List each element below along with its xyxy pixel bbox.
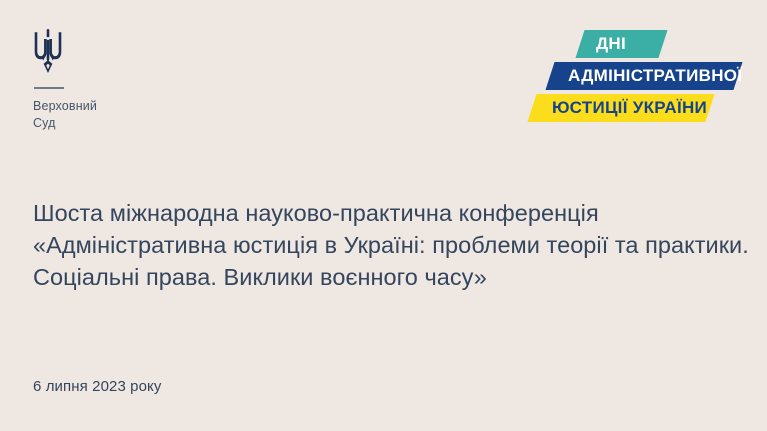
logo-label-line2: Суд [33, 115, 223, 132]
ukrainian-trident-emblem [33, 29, 63, 73]
title-line-2: «Адміністративна юстиція в Україні: проб… [33, 229, 733, 261]
logo-label-line1: Верховний [33, 98, 223, 115]
supreme-court-logo: Верховний Суд [33, 29, 223, 131]
badge-band-justice-ukraine-label: ЮСТИЦІЇ УКРАЇНИ [552, 98, 707, 118]
conference-title: Шоста міжнародна науково-практична конфе… [33, 197, 733, 293]
badge-band-dni-label: ДНІ [596, 34, 626, 54]
badge-band-justice-ukraine: ЮСТИЦІЇ УКРАЇНИ [527, 94, 714, 122]
badge-band-administrative: АДМІНІСТРАТИВНОЇ [545, 62, 742, 90]
title-line-3: Соціальні права. Виклики воєнного часу» [33, 261, 733, 293]
conference-title-slide: Верховний Суд ДНІ АДМІНІСТРАТИВНОЇ ЮСТИЦ… [0, 0, 767, 431]
badge-band-dni: ДНІ [575, 30, 667, 58]
event-badge: ДНІ АДМІНІСТРАТИВНОЇ ЮСТИЦІЇ УКРАЇНИ [520, 28, 735, 128]
badge-band-administrative-label: АДМІНІСТРАТИВНОЇ [568, 66, 742, 86]
conference-date: 6 липня 2023 року [33, 377, 162, 397]
logo-divider [34, 87, 64, 89]
title-line-1: Шоста міжнародна науково-практична конфе… [33, 197, 733, 229]
